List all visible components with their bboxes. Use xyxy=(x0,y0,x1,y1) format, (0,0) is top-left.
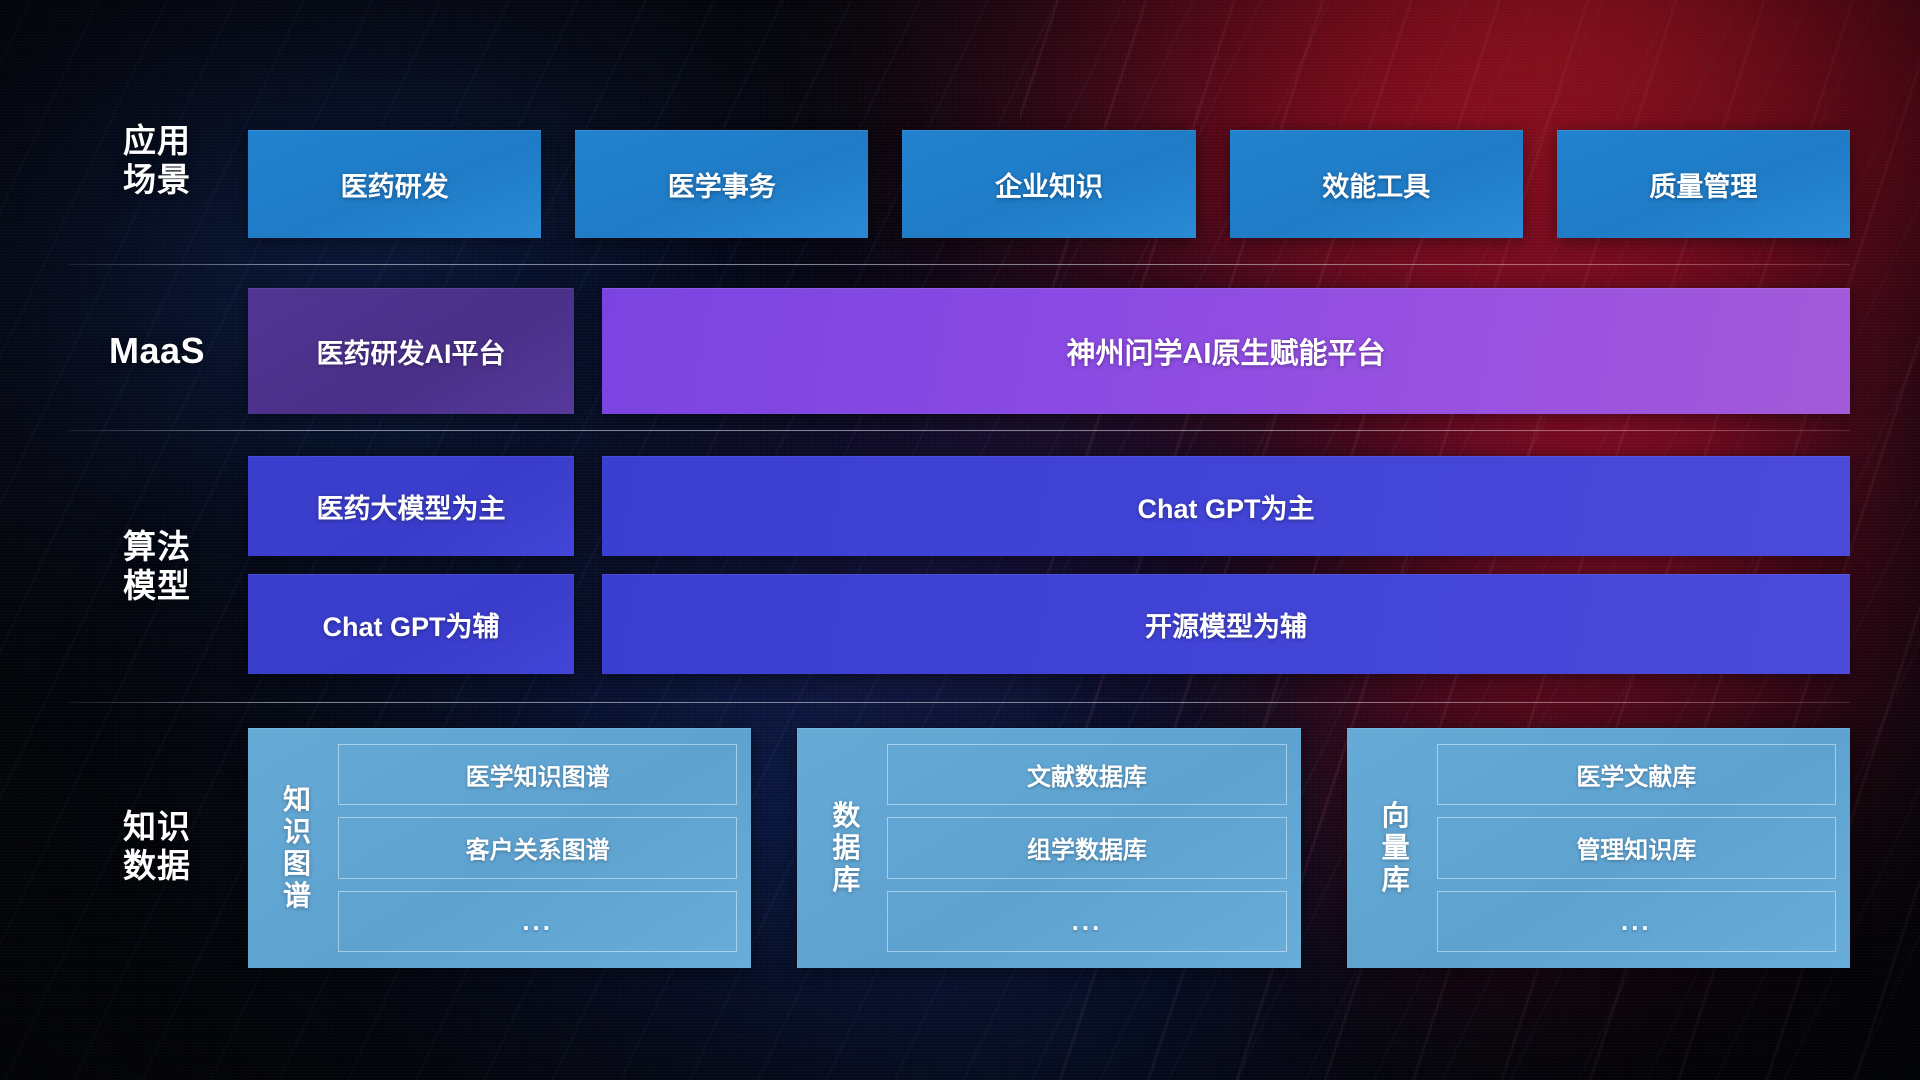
row-label-knowledge-data: 知识 数据 xyxy=(68,808,246,886)
maas-card-shenzhou-wenxue-platform[interactable]: 神州问学AI原生赋能平台 xyxy=(602,288,1850,414)
row-label-know-line-2: 数据 xyxy=(68,847,246,886)
knowledge-item-more-database[interactable]: ... xyxy=(887,891,1286,952)
knowledge-item-omics-database[interactable]: 组学数据库 xyxy=(887,817,1286,878)
app-card-efficiency-tools[interactable]: 效能工具 xyxy=(1230,130,1523,238)
title-char: 谱 xyxy=(283,880,311,912)
row-label-line-1: 应用 xyxy=(68,122,246,161)
maas-layer: 医药研发AI平台 神州问学AI原生赋能平台 xyxy=(248,288,1850,414)
knowledge-item-literature-database[interactable]: 文献数据库 xyxy=(887,744,1286,805)
knowledge-items-knowledge-graph: 医学知识图谱 客户关系图谱 ... xyxy=(328,744,737,952)
knowledge-group-database: 数 据 库 文献数据库 组学数据库 ... xyxy=(797,728,1300,968)
knowledge-group-title-knowledge-graph: 知 识 图 谱 xyxy=(266,744,328,952)
knowledge-item-customer-relation-graph[interactable]: 客户关系图谱 xyxy=(338,817,737,878)
knowledge-group-knowledge-graph: 知 识 图 谱 医学知识图谱 客户关系图谱 ... xyxy=(248,728,751,968)
knowledge-group-title-vector-store: 向 量 库 xyxy=(1365,744,1427,952)
knowledge-item-more-knowledge-graph[interactable]: ... xyxy=(338,891,737,952)
title-char: 数 xyxy=(832,800,860,832)
application-scenario-cards: 医药研发 医学事务 企业知识 效能工具 质量管理 xyxy=(248,130,1850,238)
algorithm-row-primary: 医药大模型为主 Chat GPT为主 xyxy=(248,456,1850,556)
algorithm-model-layer: 医药大模型为主 Chat GPT为主 Chat GPT为辅 开源模型为辅 xyxy=(248,456,1850,674)
knowledge-group-title-database: 数 据 库 xyxy=(815,744,877,952)
knowledge-data-layer: 知 识 图 谱 医学知识图谱 客户关系图谱 ... 数 据 库 文献数据库 组学… xyxy=(248,728,1850,968)
row-label-algorithm-models: 算法 模型 xyxy=(68,528,246,606)
knowledge-item-management-knowledge-store[interactable]: 管理知识库 xyxy=(1437,817,1836,878)
title-char: 识 xyxy=(283,816,311,848)
row-label-maas-text: MaaS xyxy=(68,330,246,372)
app-card-medical-affairs[interactable]: 医学事务 xyxy=(575,130,868,238)
algo-card-pharma-llm-primary[interactable]: 医药大模型为主 xyxy=(248,456,574,556)
title-char: 知 xyxy=(283,784,311,816)
app-card-medicine-rnd[interactable]: 医药研发 xyxy=(248,130,541,238)
algo-card-chatgpt-primary[interactable]: Chat GPT为主 xyxy=(602,456,1850,556)
title-char: 向 xyxy=(1382,800,1410,832)
knowledge-item-more-vector-store[interactable]: ... xyxy=(1437,891,1836,952)
architecture-diagram: 应用 场景 医药研发 医学事务 企业知识 效能工具 质量管理 MaaS 医药研发… xyxy=(0,0,1920,1080)
row-label-maas: MaaS xyxy=(68,330,246,372)
title-char: 量 xyxy=(1382,832,1410,864)
divider-2 xyxy=(68,430,1850,431)
app-card-enterprise-knowledge[interactable]: 企业知识 xyxy=(902,130,1195,238)
app-card-quality-management[interactable]: 质量管理 xyxy=(1557,130,1850,238)
algo-card-chatgpt-secondary[interactable]: Chat GPT为辅 xyxy=(248,574,574,674)
knowledge-item-medical-literature-store[interactable]: 医学文献库 xyxy=(1437,744,1836,805)
title-char: 库 xyxy=(832,864,860,896)
row-label-application-scenarios: 应用 场景 xyxy=(68,122,246,200)
title-char: 库 xyxy=(1382,864,1410,896)
row-label-line-2: 场景 xyxy=(68,161,246,200)
knowledge-group-vector-store: 向 量 库 医学文献库 管理知识库 ... xyxy=(1347,728,1850,968)
title-char: 据 xyxy=(832,832,860,864)
title-char: 图 xyxy=(283,848,311,880)
divider-3 xyxy=(68,702,1850,703)
divider-1 xyxy=(68,264,1850,265)
row-label-algo-line-2: 模型 xyxy=(68,567,246,606)
algo-card-opensource-secondary[interactable]: 开源模型为辅 xyxy=(602,574,1850,674)
row-label-algo-line-1: 算法 xyxy=(68,528,246,567)
knowledge-items-database: 文献数据库 组学数据库 ... xyxy=(877,744,1286,952)
knowledge-items-vector-store: 医学文献库 管理知识库 ... xyxy=(1427,744,1836,952)
algorithm-row-secondary: Chat GPT为辅 开源模型为辅 xyxy=(248,574,1850,674)
row-label-know-line-1: 知识 xyxy=(68,808,246,847)
knowledge-item-medical-knowledge-graph[interactable]: 医学知识图谱 xyxy=(338,744,737,805)
maas-card-pharma-ai-platform[interactable]: 医药研发AI平台 xyxy=(248,288,574,414)
